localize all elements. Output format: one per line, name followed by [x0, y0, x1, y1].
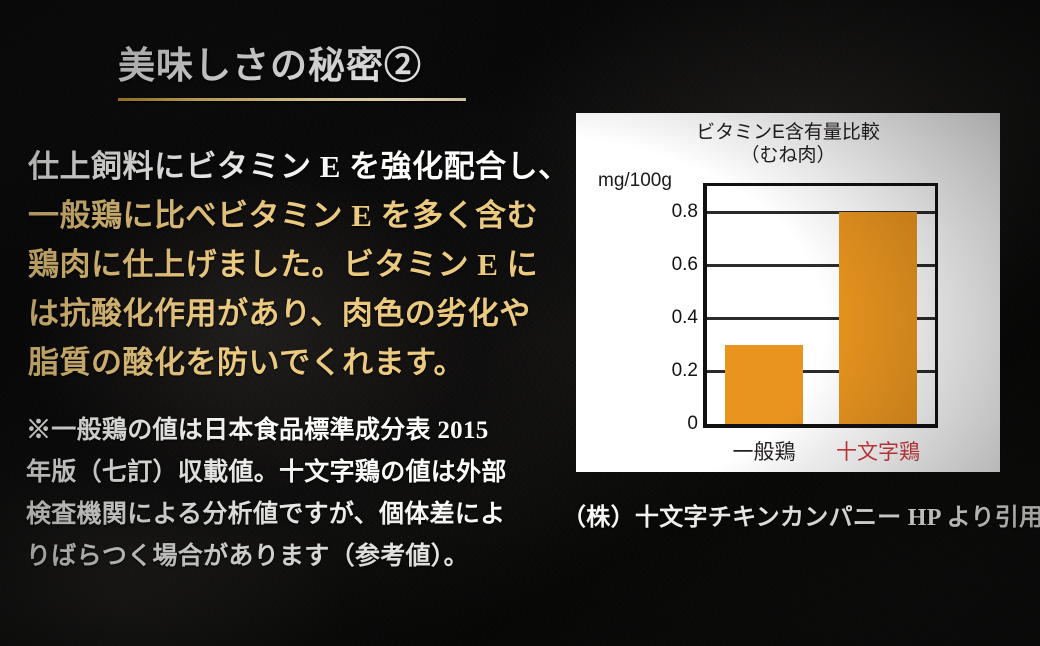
footnote-line: 検査機関による分析値ですが、個体差によ	[26, 494, 542, 536]
body-line: 仕上飼料にビタミン E を強化配合し、	[28, 142, 540, 191]
body-line: 一般鶏に比べビタミン E を多く含む	[28, 191, 540, 240]
title-block: 美味しさの秘密②	[118, 46, 538, 101]
footnote-line: ※一般鶏の値は日本食品標準成分表 2015	[26, 410, 542, 452]
y-axis-tick-label: 0	[687, 413, 698, 435]
footnote-line: 年版（七訂）収載値。十文字鶏の値は外部	[26, 452, 542, 494]
plot-area: 00.20.40.60.8一般鶏十文字鶏	[703, 183, 938, 428]
body-line: 鶏肉に仕上げました。ビタミン E に	[28, 240, 540, 289]
y-axis-tick-label: 0.4	[672, 307, 698, 329]
body-copy: 仕上飼料にビタミン E を強化配合し、 一般鶏に比べビタミン E を多く含む 鶏…	[28, 142, 540, 387]
slide-root: 美味しさの秘密② 仕上飼料にビタミン E を強化配合し、 一般鶏に比べビタミン …	[0, 0, 1040, 646]
bar	[839, 212, 917, 424]
y-axis-tick-label: 0.6	[672, 254, 698, 276]
x-axis-category-label: 一般鶏	[733, 436, 796, 466]
body-line: は抗酸化作用があり、肉色の劣化や	[28, 289, 540, 338]
y-axis-unit-label: mg/100g	[598, 170, 672, 192]
chart-subtitle: （むね肉）	[576, 144, 1000, 167]
body-line: 脂質の酸化を防いでくれます。	[28, 338, 540, 387]
chart-title: ビタミンE含有量比較	[576, 121, 1000, 144]
page-title: 美味しさの秘密②	[118, 46, 538, 89]
footnote-line: りばらつく場合があります（参考値）。	[26, 536, 542, 578]
title-underline-rule	[118, 98, 466, 101]
footnote-block: ※一般鶏の値は日本食品標準成分表 2015 年版（七訂）収載値。十文字鶏の値は外…	[26, 410, 542, 578]
chart-source-caption: （株）十文字チキンカンパニー HP より引用	[562, 497, 1032, 532]
bar	[725, 345, 803, 424]
y-axis-tick-label: 0.8	[672, 201, 698, 223]
x-axis-category-label: 十文字鶏	[836, 436, 920, 466]
chart-panel: ビタミンE含有量比較 （むね肉） mg/100g 00.20.40.60.8一般…	[576, 113, 1000, 472]
y-axis-tick-label: 0.2	[672, 360, 698, 382]
